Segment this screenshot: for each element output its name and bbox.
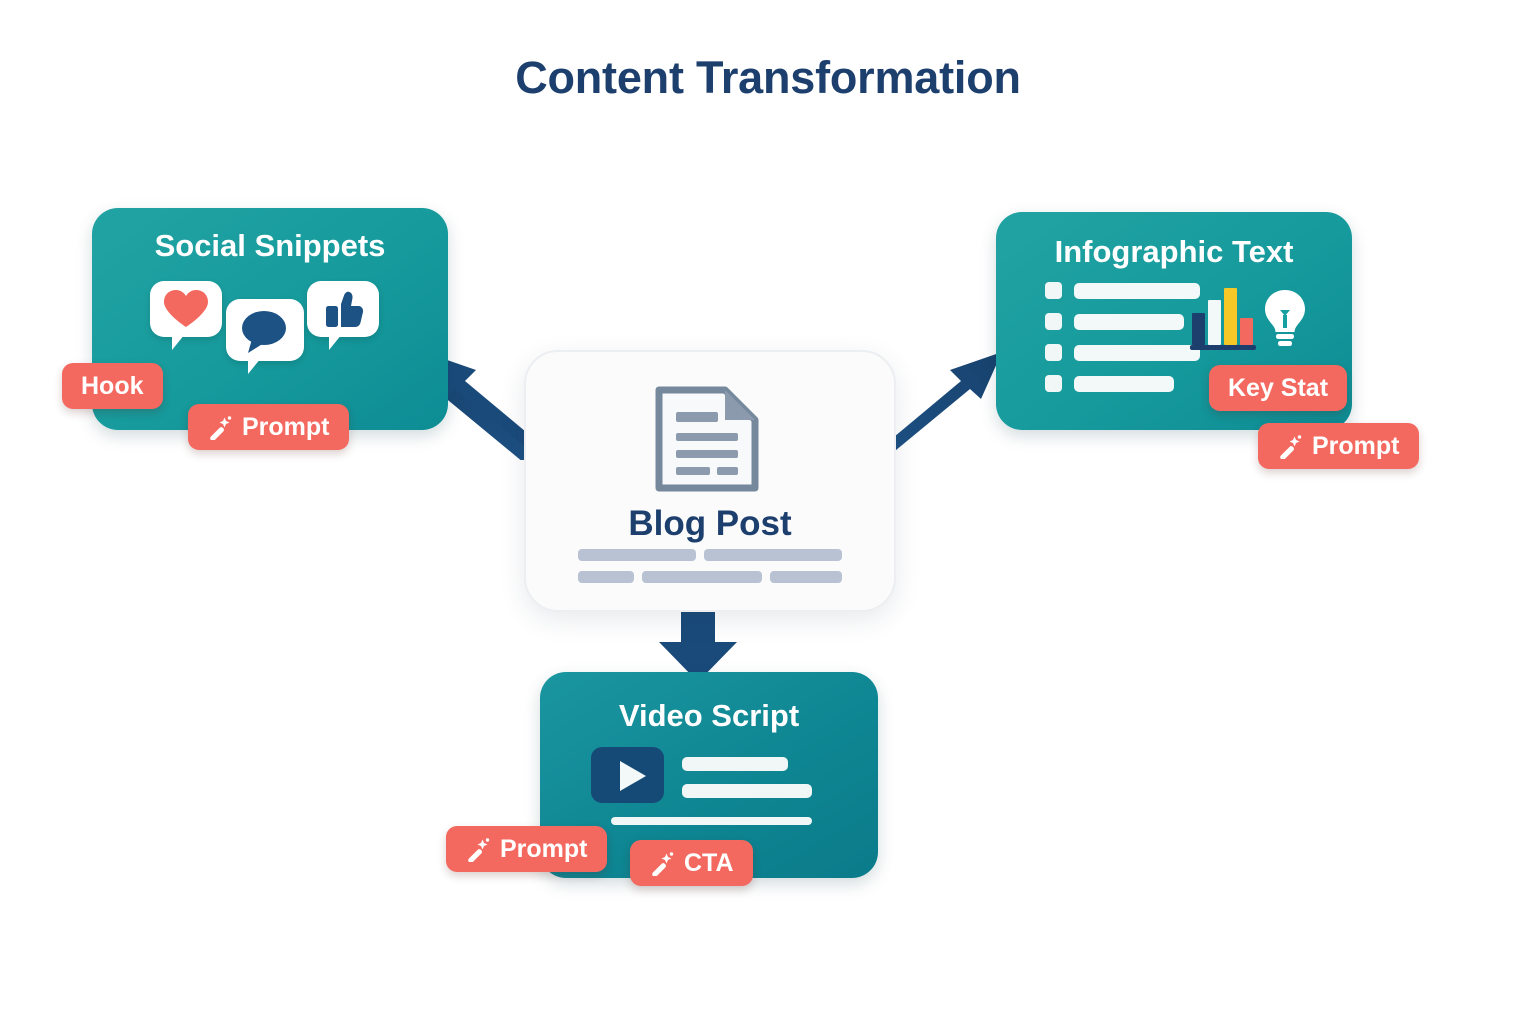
document-icon bbox=[647, 384, 767, 494]
card-blog-post-title: Blog Post bbox=[526, 504, 894, 544]
placeholder-bar bbox=[578, 571, 634, 583]
comment-bubble bbox=[226, 299, 304, 361]
placeholder-bar bbox=[578, 549, 696, 561]
badge-prompt-infographic[interactable]: Prompt bbox=[1258, 423, 1419, 469]
diagram-canvas: Content Transformation Social Snippets bbox=[0, 0, 1536, 1024]
magic-wand-icon bbox=[1277, 433, 1303, 459]
card-video-script-title: Video Script bbox=[540, 698, 878, 734]
thumbs-up-icon bbox=[307, 281, 379, 337]
list-item bbox=[1045, 375, 1200, 392]
list-bar bbox=[1074, 376, 1174, 392]
bullet-dot bbox=[1045, 313, 1062, 330]
chart-bar bbox=[1192, 313, 1205, 345]
chart-bar bbox=[1224, 288, 1237, 345]
list-bar bbox=[1074, 283, 1200, 299]
video-text-line bbox=[611, 817, 812, 825]
badge-key-stat-label: Key Stat bbox=[1228, 374, 1328, 403]
page-title: Content Transformation bbox=[0, 52, 1536, 104]
blog-placeholder-lines bbox=[578, 549, 842, 593]
badge-hook-label: Hook bbox=[81, 372, 144, 401]
play-triangle bbox=[620, 761, 646, 791]
magic-wand-icon bbox=[649, 850, 675, 876]
list-item bbox=[1045, 313, 1200, 330]
comment-icon bbox=[226, 299, 304, 361]
video-text-line bbox=[682, 784, 812, 798]
list-item bbox=[1045, 344, 1200, 361]
bullet-dot bbox=[1045, 344, 1062, 361]
badge-prompt-social-label: Prompt bbox=[242, 413, 330, 442]
placeholder-row bbox=[578, 549, 842, 561]
badge-hook[interactable]: Hook bbox=[62, 363, 163, 409]
bullet-dot bbox=[1045, 282, 1062, 299]
list-item bbox=[1045, 282, 1200, 299]
badge-cta-label: CTA bbox=[684, 849, 734, 878]
heart-icon bbox=[150, 281, 222, 337]
magic-wand-icon bbox=[207, 414, 233, 440]
placeholder-bar bbox=[770, 571, 842, 583]
badge-prompt-social[interactable]: Prompt bbox=[188, 404, 349, 450]
lightbulb-icon bbox=[1261, 288, 1309, 350]
chart-baseline bbox=[1190, 345, 1256, 350]
thumbs-up-bubble bbox=[307, 281, 379, 337]
bullet-dot bbox=[1045, 375, 1062, 392]
card-social-snippets-title: Social Snippets bbox=[92, 228, 448, 264]
magic-wand-icon bbox=[465, 836, 491, 862]
chart-bar bbox=[1240, 318, 1253, 345]
placeholder-bar bbox=[704, 549, 842, 561]
badge-cta[interactable]: CTA bbox=[630, 840, 753, 886]
heart-bubble bbox=[150, 281, 222, 337]
placeholder-row bbox=[578, 571, 842, 583]
badge-key-stat[interactable]: Key Stat bbox=[1209, 365, 1347, 411]
play-button-icon[interactable] bbox=[591, 747, 664, 803]
badge-prompt-infographic-label: Prompt bbox=[1312, 432, 1400, 461]
list-bar bbox=[1074, 345, 1200, 361]
bullet-list-icon bbox=[1045, 282, 1200, 406]
badge-prompt-video[interactable]: Prompt bbox=[446, 826, 607, 872]
card-infographic-text-title: Infographic Text bbox=[996, 234, 1352, 270]
video-text-line bbox=[682, 757, 788, 771]
list-bar bbox=[1074, 314, 1184, 330]
badge-prompt-video-label: Prompt bbox=[500, 835, 588, 864]
placeholder-bar bbox=[642, 571, 762, 583]
chart-bar bbox=[1208, 300, 1221, 345]
bar-chart-icon bbox=[1190, 288, 1256, 350]
